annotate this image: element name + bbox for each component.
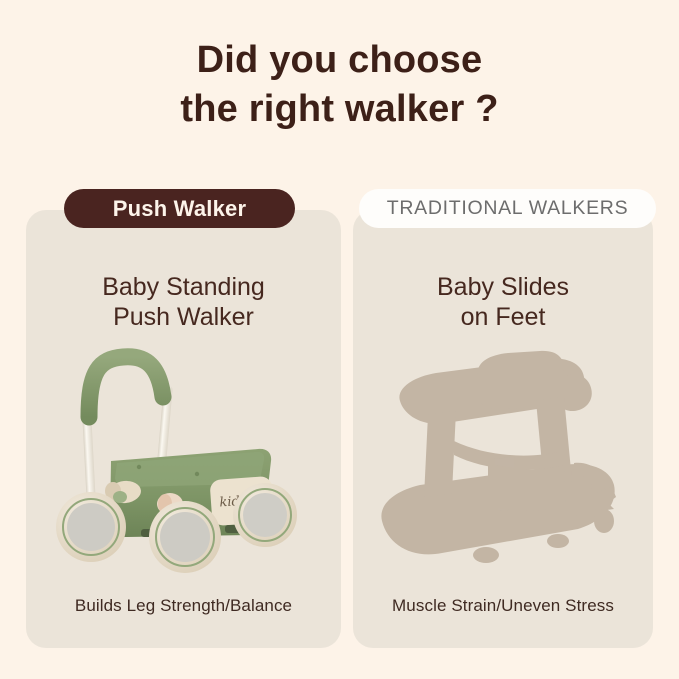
traditional-walker-silhouette-svg	[368, 345, 638, 585]
card-push-walker[interactable]: Baby Standing Push Walker	[26, 210, 341, 648]
card-traditional-walker[interactable]: Baby Slides on Feet	[353, 210, 653, 648]
walker-silhouette	[381, 351, 616, 563]
card-heading-push-walker: Baby Standing Push Walker	[26, 272, 341, 332]
push-walker-svg: kidpop	[53, 345, 315, 581]
card-heading-line-2: Push Walker	[26, 302, 341, 332]
card-heading-line-1: Baby Standing	[26, 272, 341, 302]
card-heading-line-1: Baby Slides	[353, 272, 653, 302]
card-caption-push-walker: Builds Leg Strength/Balance	[26, 596, 341, 616]
comparison-cards: Baby Standing Push Walker	[0, 0, 679, 679]
handle-bar	[89, 357, 163, 417]
card-caption-traditional-walker: Muscle Strain/Uneven Stress	[353, 596, 653, 616]
traditional-walker-illustration	[353, 345, 653, 585]
card-heading-traditional-walker: Baby Slides on Feet	[353, 272, 653, 332]
card-heading-line-2: on Feet	[353, 302, 653, 332]
push-walker-illustration: kidpop	[26, 345, 341, 585]
badge-push-walker[interactable]: Push Walker	[64, 189, 295, 228]
badge-traditional-walkers[interactable]: TRADITIONAL WALKERS	[359, 189, 656, 228]
